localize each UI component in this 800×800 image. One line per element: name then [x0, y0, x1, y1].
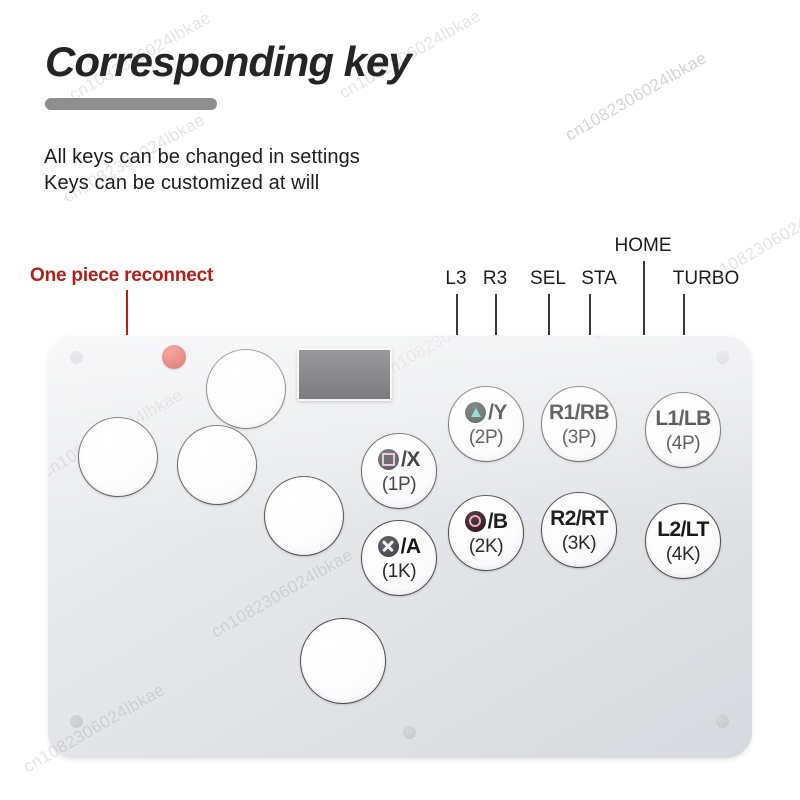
subtitle-line-2: Keys can be customized at will — [44, 172, 319, 195]
watermark-text: cn1082306024lbkae — [378, 335, 527, 382]
reconnect-callout-label: One piece reconnect — [30, 265, 213, 287]
action-button-sub-label: (3P) — [562, 428, 596, 447]
leader-line-turbo — [683, 294, 685, 338]
action-button-cross-a[interactable]: /A (1K) — [361, 520, 437, 596]
callout-label-l3: L3 — [445, 268, 466, 290]
dir-button-down[interactable] — [177, 425, 257, 505]
leader-line-home — [643, 261, 645, 338]
action-button-main-label: /Y — [488, 402, 507, 423]
page-title: Corresponding key — [45, 38, 411, 86]
action-button-main-label: /A — [401, 536, 421, 557]
controller-body: cn1082306024lbkae cn1082306024lbkae cn10… — [48, 335, 752, 758]
leader-line-l3 — [456, 294, 458, 338]
action-button-l2-lt[interactable]: L2/LT (4K) — [645, 503, 721, 579]
screw-hole — [403, 726, 416, 739]
action-button-sub-label: (4P) — [666, 434, 700, 453]
action-button-r1-rb[interactable]: R1/RB (3P) — [541, 386, 617, 462]
screw-hole — [70, 351, 83, 364]
cross-icon — [378, 536, 399, 557]
callout-label-home: HOME — [615, 235, 672, 257]
square-icon — [378, 449, 399, 470]
leader-line-sta — [589, 294, 591, 338]
oled-display[interactable] — [297, 348, 392, 401]
action-button-main-label: R2/RT — [550, 508, 608, 529]
action-button-main-label: L1/LB — [655, 408, 710, 429]
action-button-r2-rt[interactable]: R2/RT (3K) — [541, 492, 617, 568]
action-button-sub-label: (3K) — [562, 534, 596, 553]
dir-button-right[interactable] — [264, 476, 344, 556]
watermark-text: cn1082306024lbkae — [562, 48, 711, 145]
leader-line-sel — [548, 294, 550, 338]
triangle-icon — [465, 402, 486, 423]
action-button-circle-b[interactable]: /B (2K) — [448, 495, 524, 571]
callout-label-r3: R3 — [483, 268, 507, 290]
action-button-sub-label: (1K) — [382, 562, 416, 581]
circle-icon — [465, 511, 486, 532]
action-button-sub-label: (2P) — [469, 428, 503, 447]
dir-button-left[interactable] — [78, 417, 158, 497]
title-underline-bar — [45, 98, 217, 110]
watermark-text: cn1082306024lbkae — [588, 335, 737, 344]
action-button-l1-lb[interactable]: L1/LB (4P) — [645, 392, 721, 468]
callout-label-turbo: TURBO — [673, 268, 740, 290]
action-button-main-label: L2/LT — [657, 519, 708, 540]
action-button-square-x[interactable]: /X (1P) — [361, 433, 437, 509]
callout-label-sel: SEL — [530, 268, 566, 290]
action-button-main-label: /X — [401, 449, 420, 470]
screw-hole — [70, 715, 83, 728]
action-button-sub-label: (4K) — [666, 545, 700, 564]
action-button-sub-label: (2K) — [469, 537, 503, 556]
subtitle-line-1: All keys can be changed in settings — [44, 146, 360, 169]
dir-button-up[interactable] — [206, 349, 286, 429]
action-button-triangle-y[interactable]: /Y (2P) — [448, 386, 524, 462]
action-button-main-label: /B — [488, 511, 508, 532]
screw-hole — [716, 715, 729, 728]
action-button-sub-label: (1P) — [382, 475, 416, 494]
screw-hole — [716, 351, 729, 364]
leader-line-r3 — [495, 294, 497, 338]
reconnect-led-button[interactable] — [162, 345, 186, 369]
callout-label-sta: STA — [581, 268, 617, 290]
action-button-main-label: R1/RB — [549, 402, 609, 423]
thumb-button[interactable] — [300, 618, 386, 704]
